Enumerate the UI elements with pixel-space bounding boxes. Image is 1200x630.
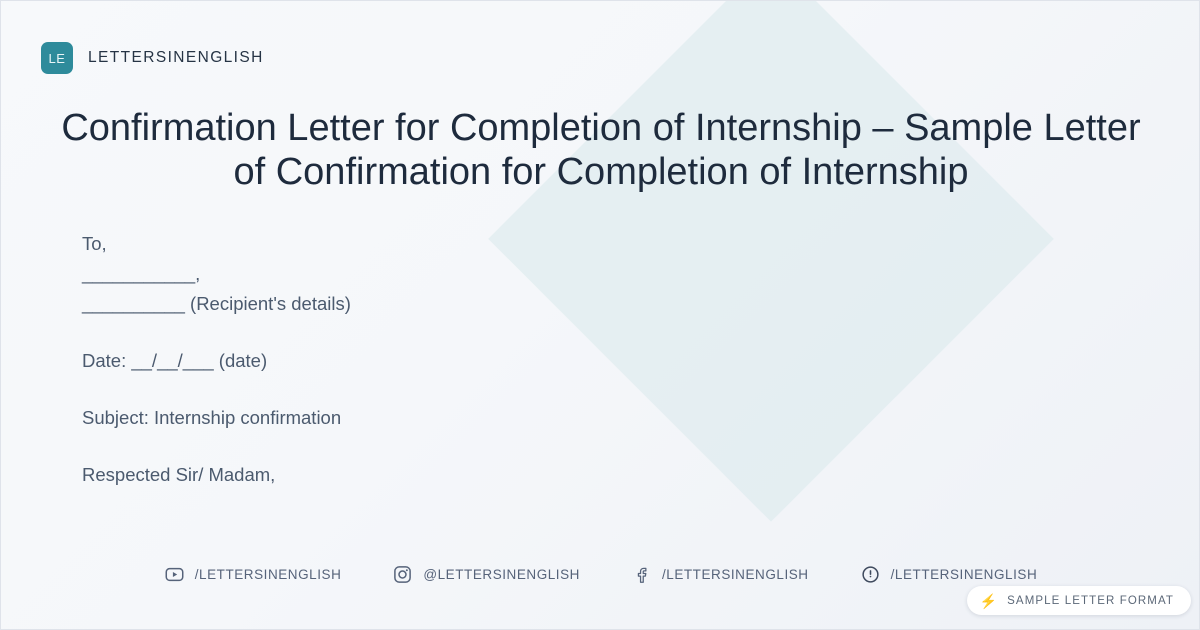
social-handle-label: /LETTERSINENGLISH xyxy=(891,567,1038,582)
social-link-pinterest[interactable]: /LETTERSINENGLISH xyxy=(861,565,1038,584)
salutation-block: Respected Sir/ Madam, xyxy=(82,460,1012,490)
poster-canvas: LE LETTERSINENGLISH Confirmation Letter … xyxy=(0,0,1200,630)
recipient-to-line: To, xyxy=(82,229,1012,259)
facebook-icon xyxy=(632,565,651,584)
status-badge-label: SAMPLE LETTER FORMAT xyxy=(1007,595,1174,607)
social-link-facebook[interactable]: /LETTERSINENGLISH xyxy=(632,565,809,584)
pinterest-icon xyxy=(861,565,880,584)
brand-name-label: LETTERSINENGLISH xyxy=(88,49,264,67)
instagram-icon xyxy=(393,565,412,584)
status-badge[interactable]: ⚡ SAMPLE LETTER FORMAT xyxy=(967,586,1191,615)
lightning-bolt-icon: ⚡ xyxy=(980,594,999,608)
recipient-details-line: __________ (Recipient's details) xyxy=(82,289,1012,319)
youtube-icon xyxy=(165,565,184,584)
recipient-block: To, ___________, __________ (Recipient's… xyxy=(82,229,1012,319)
date-block: Date: __/__/___ (date) xyxy=(82,346,1012,376)
salutation-line: Respected Sir/ Madam, xyxy=(82,460,1012,490)
subject-block: Subject: Internship confirmation xyxy=(82,403,1012,433)
social-link-instagram[interactable]: @LETTERSINENGLISH xyxy=(393,565,580,584)
brand-logo[interactable]: LE LETTERSINENGLISH xyxy=(41,42,264,74)
date-line: Date: __/__/___ (date) xyxy=(82,346,1012,376)
letter-body: To, ___________, __________ (Recipient's… xyxy=(82,229,1012,490)
subject-line: Subject: Internship confirmation xyxy=(82,403,1012,433)
recipient-blank-line: ___________, xyxy=(82,259,1012,289)
page-title: Confirmation Letter for Completion of In… xyxy=(61,106,1141,195)
social-handle-label: /LETTERSINENGLISH xyxy=(195,567,342,582)
brand-mark-icon: LE xyxy=(41,42,73,74)
social-footer: /LETTERSINENGLISH @LETTERSINENGLISH /LET… xyxy=(1,565,1200,584)
social-link-youtube[interactable]: /LETTERSINENGLISH xyxy=(165,565,342,584)
social-handle-label: /LETTERSINENGLISH xyxy=(662,567,809,582)
social-handle-label: @LETTERSINENGLISH xyxy=(423,567,580,582)
